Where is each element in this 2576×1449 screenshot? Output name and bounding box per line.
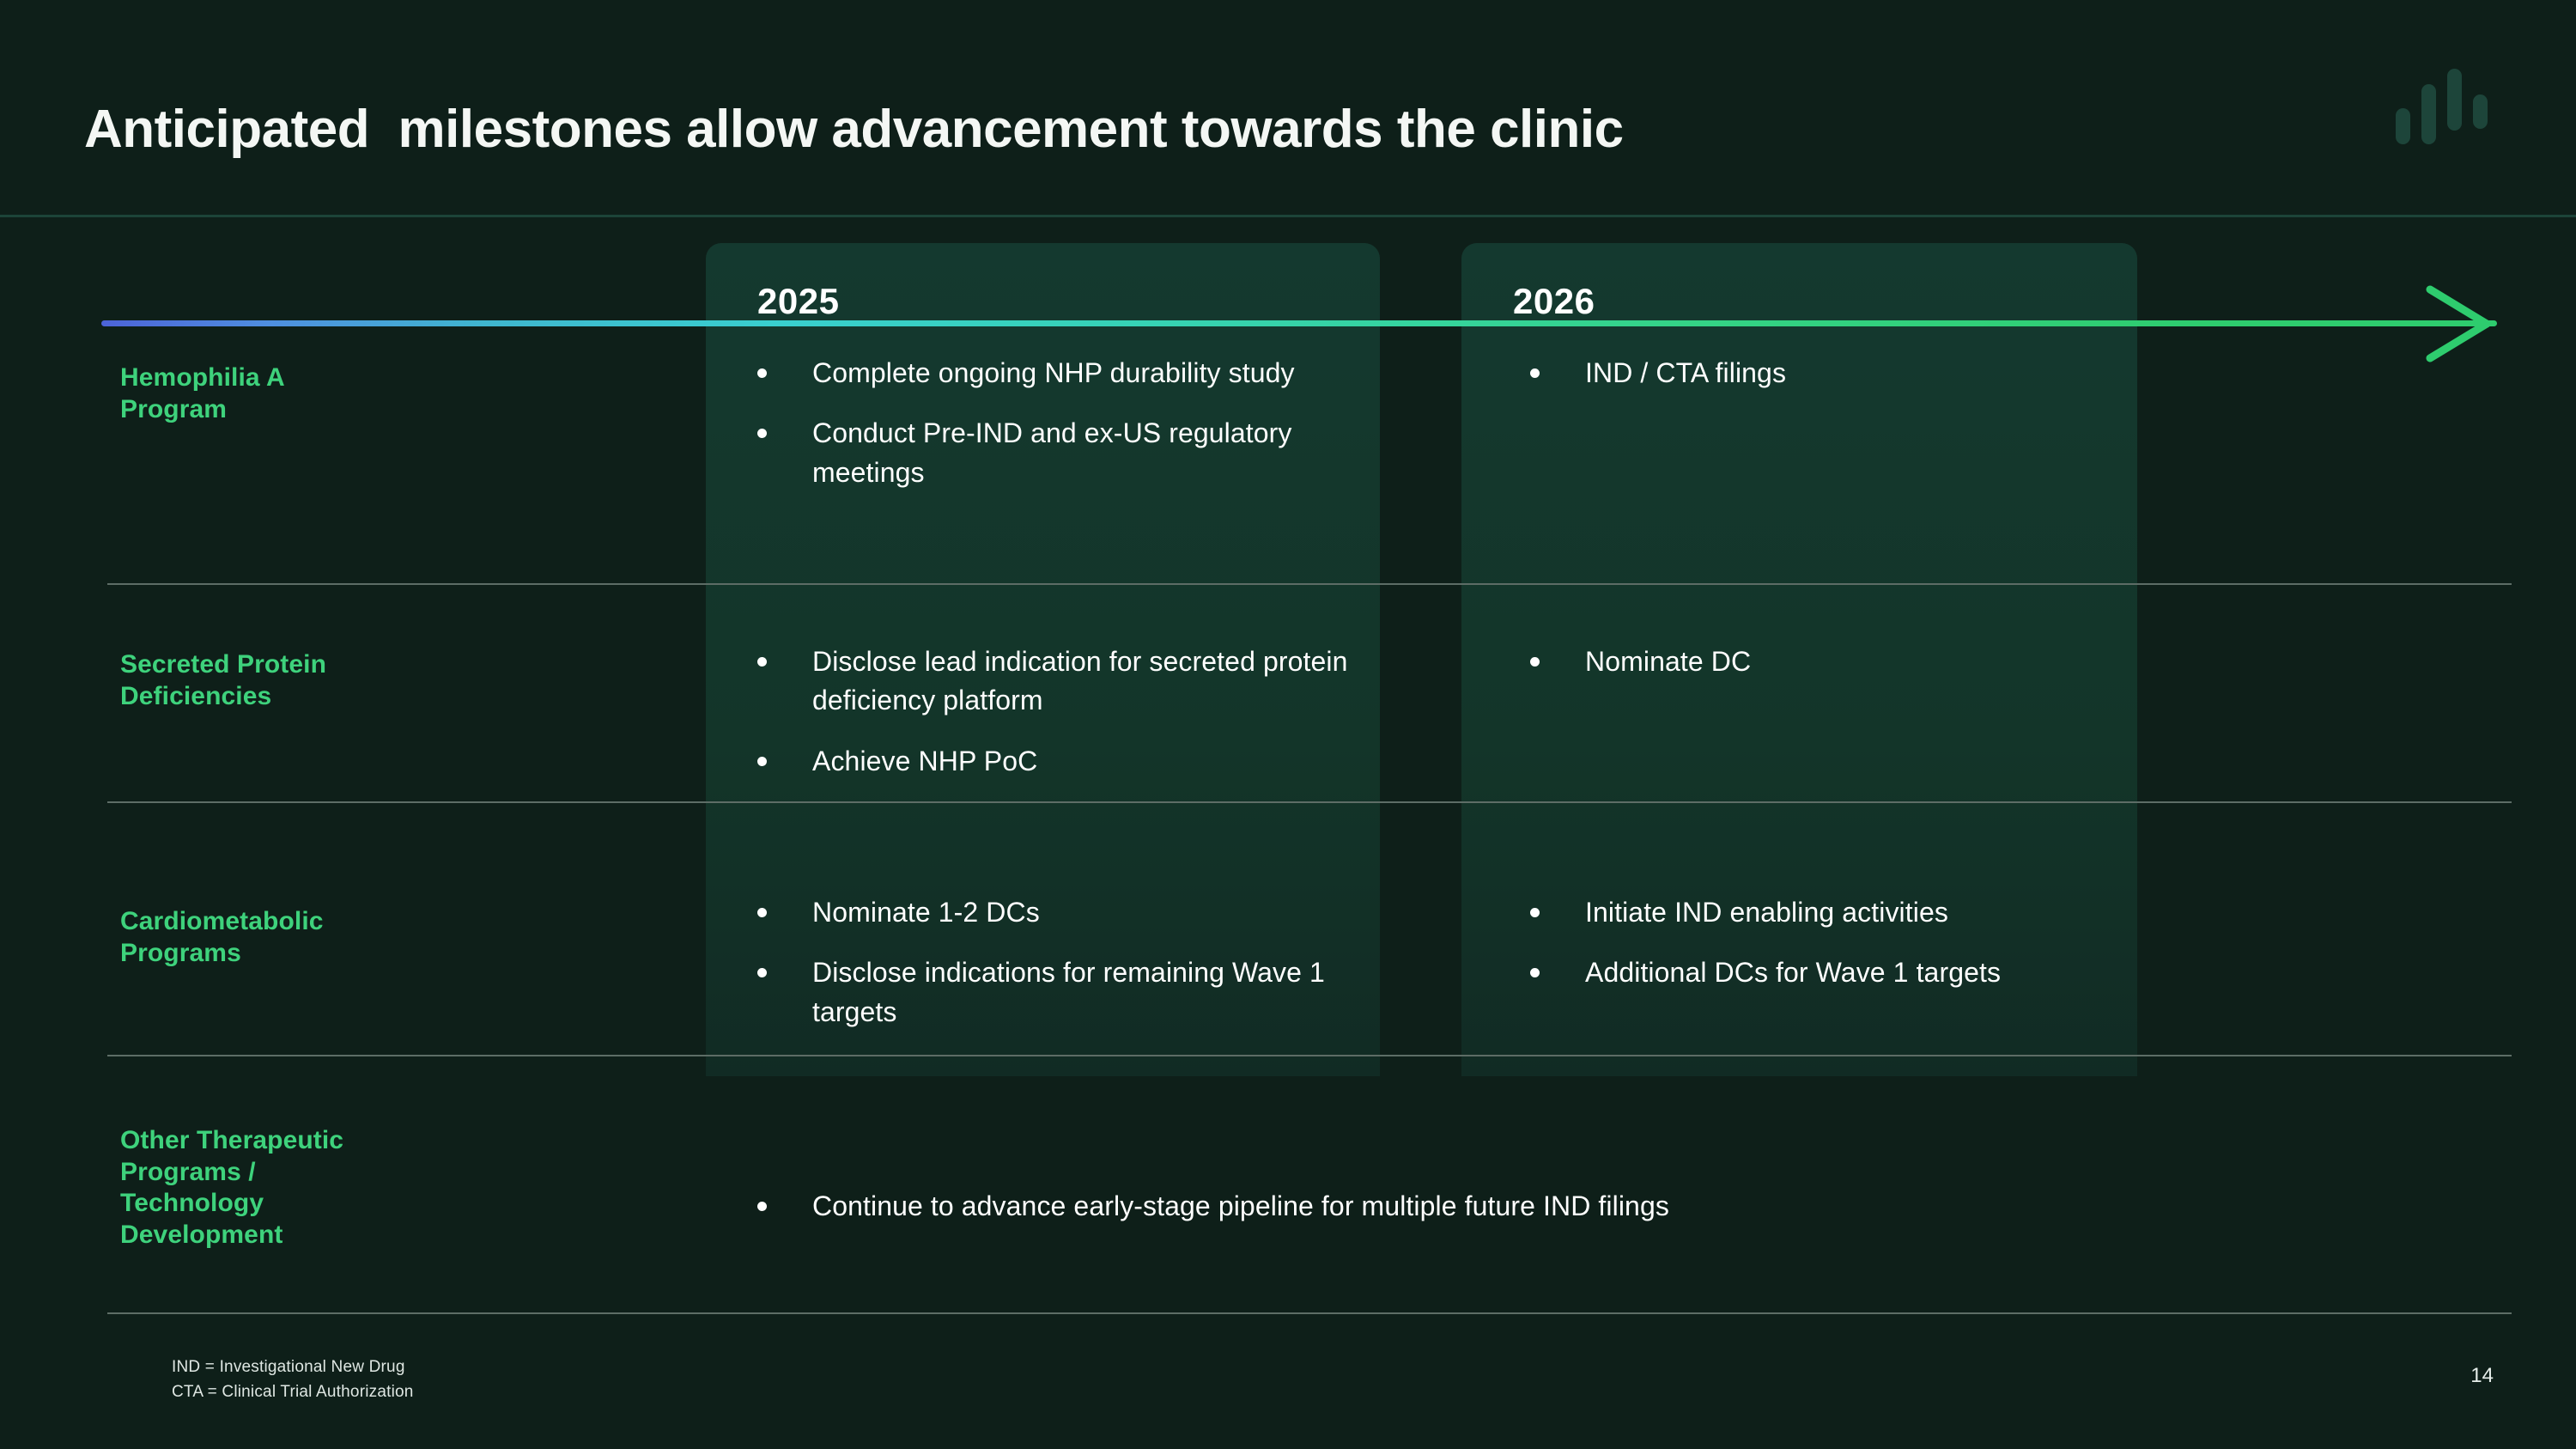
year-label-2026: 2026 (1513, 281, 1595, 322)
bullet-text: Additional DCs for Wave 1 targets (1585, 953, 2001, 992)
list-item: Nominate DC (1530, 642, 2131, 681)
bullets-secreted-2025: Disclose lead indication for secreted pr… (757, 642, 1358, 781)
bullet-dot-icon (1530, 908, 1540, 917)
row-divider-1 (107, 583, 2512, 585)
list-item: Disclose lead indication for secreted pr… (757, 642, 1358, 721)
list-item: Initiate IND enabling activities (1530, 893, 2131, 932)
bullet-text: Disclose indications for remaining Wave … (812, 953, 1358, 1032)
list-item: Additional DCs for Wave 1 targets (1530, 953, 2131, 992)
bullets-hemophilia-2025: Complete ongoing NHP durability study Co… (757, 354, 1358, 492)
bullets-hemophilia-2026: IND / CTA filings (1530, 354, 2131, 393)
bullet-text: Continue to advance early-stage pipeline… (812, 1187, 1669, 1226)
row-label-other-therapeutic-programs: Other Therapeutic Programs / Technology … (120, 1125, 635, 1251)
row-label-hemophilia-a-program: Hemophilia A Program (120, 362, 635, 425)
list-item: Nominate 1-2 DCs (757, 893, 1358, 932)
bullet-dot-icon (757, 657, 767, 667)
logo-bar-1 (2396, 108, 2410, 144)
bullet-dot-icon (1530, 657, 1540, 667)
bullet-text: Nominate DC (1585, 642, 1751, 681)
row-divider-2 (107, 801, 2512, 803)
logo-bar-4 (2473, 94, 2488, 129)
arrow-head-icon (2416, 283, 2502, 365)
bullet-text: Achieve NHP PoC (812, 742, 1037, 781)
timeline-line (101, 320, 2497, 326)
bullets-cardiometabolic-2025: Nominate 1-2 DCs Disclose indications fo… (757, 893, 1358, 1032)
year-label-2025: 2025 (757, 281, 839, 322)
bullet-dot-icon (757, 429, 767, 438)
waveform-logo (2396, 67, 2499, 144)
logo-bar-3 (2447, 69, 2462, 131)
list-item: Achieve NHP PoC (757, 742, 1358, 781)
page-title: Anticipated milestones allow advancement… (84, 99, 1624, 160)
row-label-secreted-protein-deficiencies: Secreted Protein Deficiencies (120, 649, 635, 712)
bullets-cardiometabolic-2026: Initiate IND enabling activities Additio… (1530, 893, 2131, 993)
bullet-dot-icon (757, 968, 767, 977)
bullet-text: Disclose lead indication for secreted pr… (812, 642, 1358, 721)
bullet-dot-icon (1530, 368, 1540, 378)
list-item: Continue to advance early-stage pipeline… (757, 1187, 2131, 1226)
bullet-text: Complete ongoing NHP durability study (812, 354, 1295, 393)
row-divider-4 (107, 1312, 2512, 1314)
list-item: Complete ongoing NHP durability study (757, 354, 1358, 393)
bullet-dot-icon (757, 908, 767, 917)
slide-root: Anticipated milestones allow advancement… (0, 0, 2576, 1449)
bullet-text: Conduct Pre-IND and ex-US regulatory mee… (812, 414, 1358, 492)
bullet-text: Initiate IND enabling activities (1585, 893, 1948, 932)
page-number: 14 (2470, 1364, 2494, 1388)
bullet-dot-icon (757, 1202, 767, 1211)
row-divider-3 (107, 1055, 2512, 1056)
slide-header: Anticipated milestones allow advancement… (0, 0, 2576, 217)
bullet-text: IND / CTA filings (1585, 354, 1786, 393)
timeline-arrow (101, 320, 2497, 327)
bullet-dot-icon (757, 757, 767, 766)
list-item: IND / CTA filings (1530, 354, 2131, 393)
bullet-dot-icon (1530, 968, 1540, 977)
list-item: Disclose indications for remaining Wave … (757, 953, 1358, 1032)
bullet-text: Nominate 1-2 DCs (812, 893, 1040, 932)
logo-bar-2 (2421, 84, 2436, 144)
footnote-cta: CTA = Clinical Trial Authorization (172, 1380, 414, 1405)
list-item: Conduct Pre-IND and ex-US regulatory mee… (757, 414, 1358, 492)
bullets-other-therapeutic: Continue to advance early-stage pipeline… (757, 1187, 2131, 1226)
bullets-secreted-2026: Nominate DC (1530, 642, 2131, 681)
footnotes: IND = Investigational New Drug CTA = Cli… (172, 1355, 414, 1405)
footnote-ind: IND = Investigational New Drug (172, 1355, 414, 1380)
row-label-cardiometabolic-programs: Cardiometabolic Programs (120, 906, 635, 969)
bullet-dot-icon (757, 368, 767, 378)
